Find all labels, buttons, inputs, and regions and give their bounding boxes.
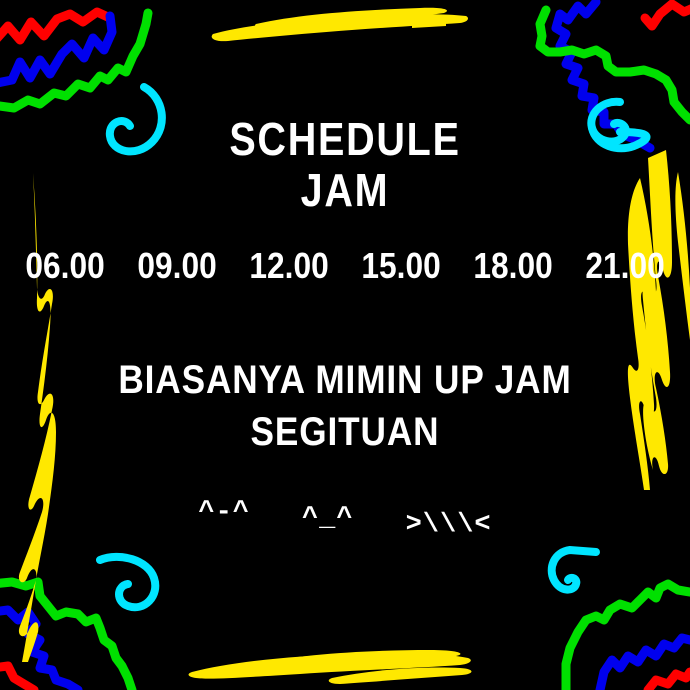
page-title-line2: JAM xyxy=(48,163,641,217)
emoticon-happy-face: ^-^ xyxy=(198,500,250,527)
schedule-time: 18.00 xyxy=(473,245,552,287)
schedule-poster: SCHEDULE JAM 06.00 09.00 12.00 15.00 18.… xyxy=(0,0,690,690)
caption-line-2: SEGITUAN xyxy=(41,410,648,455)
poster-content: SCHEDULE JAM 06.00 09.00 12.00 15.00 18.… xyxy=(0,0,690,690)
schedule-time: 15.00 xyxy=(361,245,440,287)
emoticon-row: ^-^ ^_^ >\\\< xyxy=(0,500,690,527)
caption-line-1: BIASANYA MIMIN UP JAM xyxy=(41,358,648,403)
schedule-time: 12.00 xyxy=(249,245,328,287)
schedule-time: 09.00 xyxy=(137,245,216,287)
emoticon-smiling-face: ^_^ xyxy=(302,506,354,533)
emoticon-blush-face: >\\\< xyxy=(406,512,492,539)
schedule-time: 21.00 xyxy=(586,245,665,287)
schedule-times-row: 06.00 09.00 12.00 15.00 18.00 21.00 xyxy=(0,245,690,287)
schedule-time: 06.00 xyxy=(25,245,104,287)
page-title-line1: SCHEDULE xyxy=(48,112,641,166)
